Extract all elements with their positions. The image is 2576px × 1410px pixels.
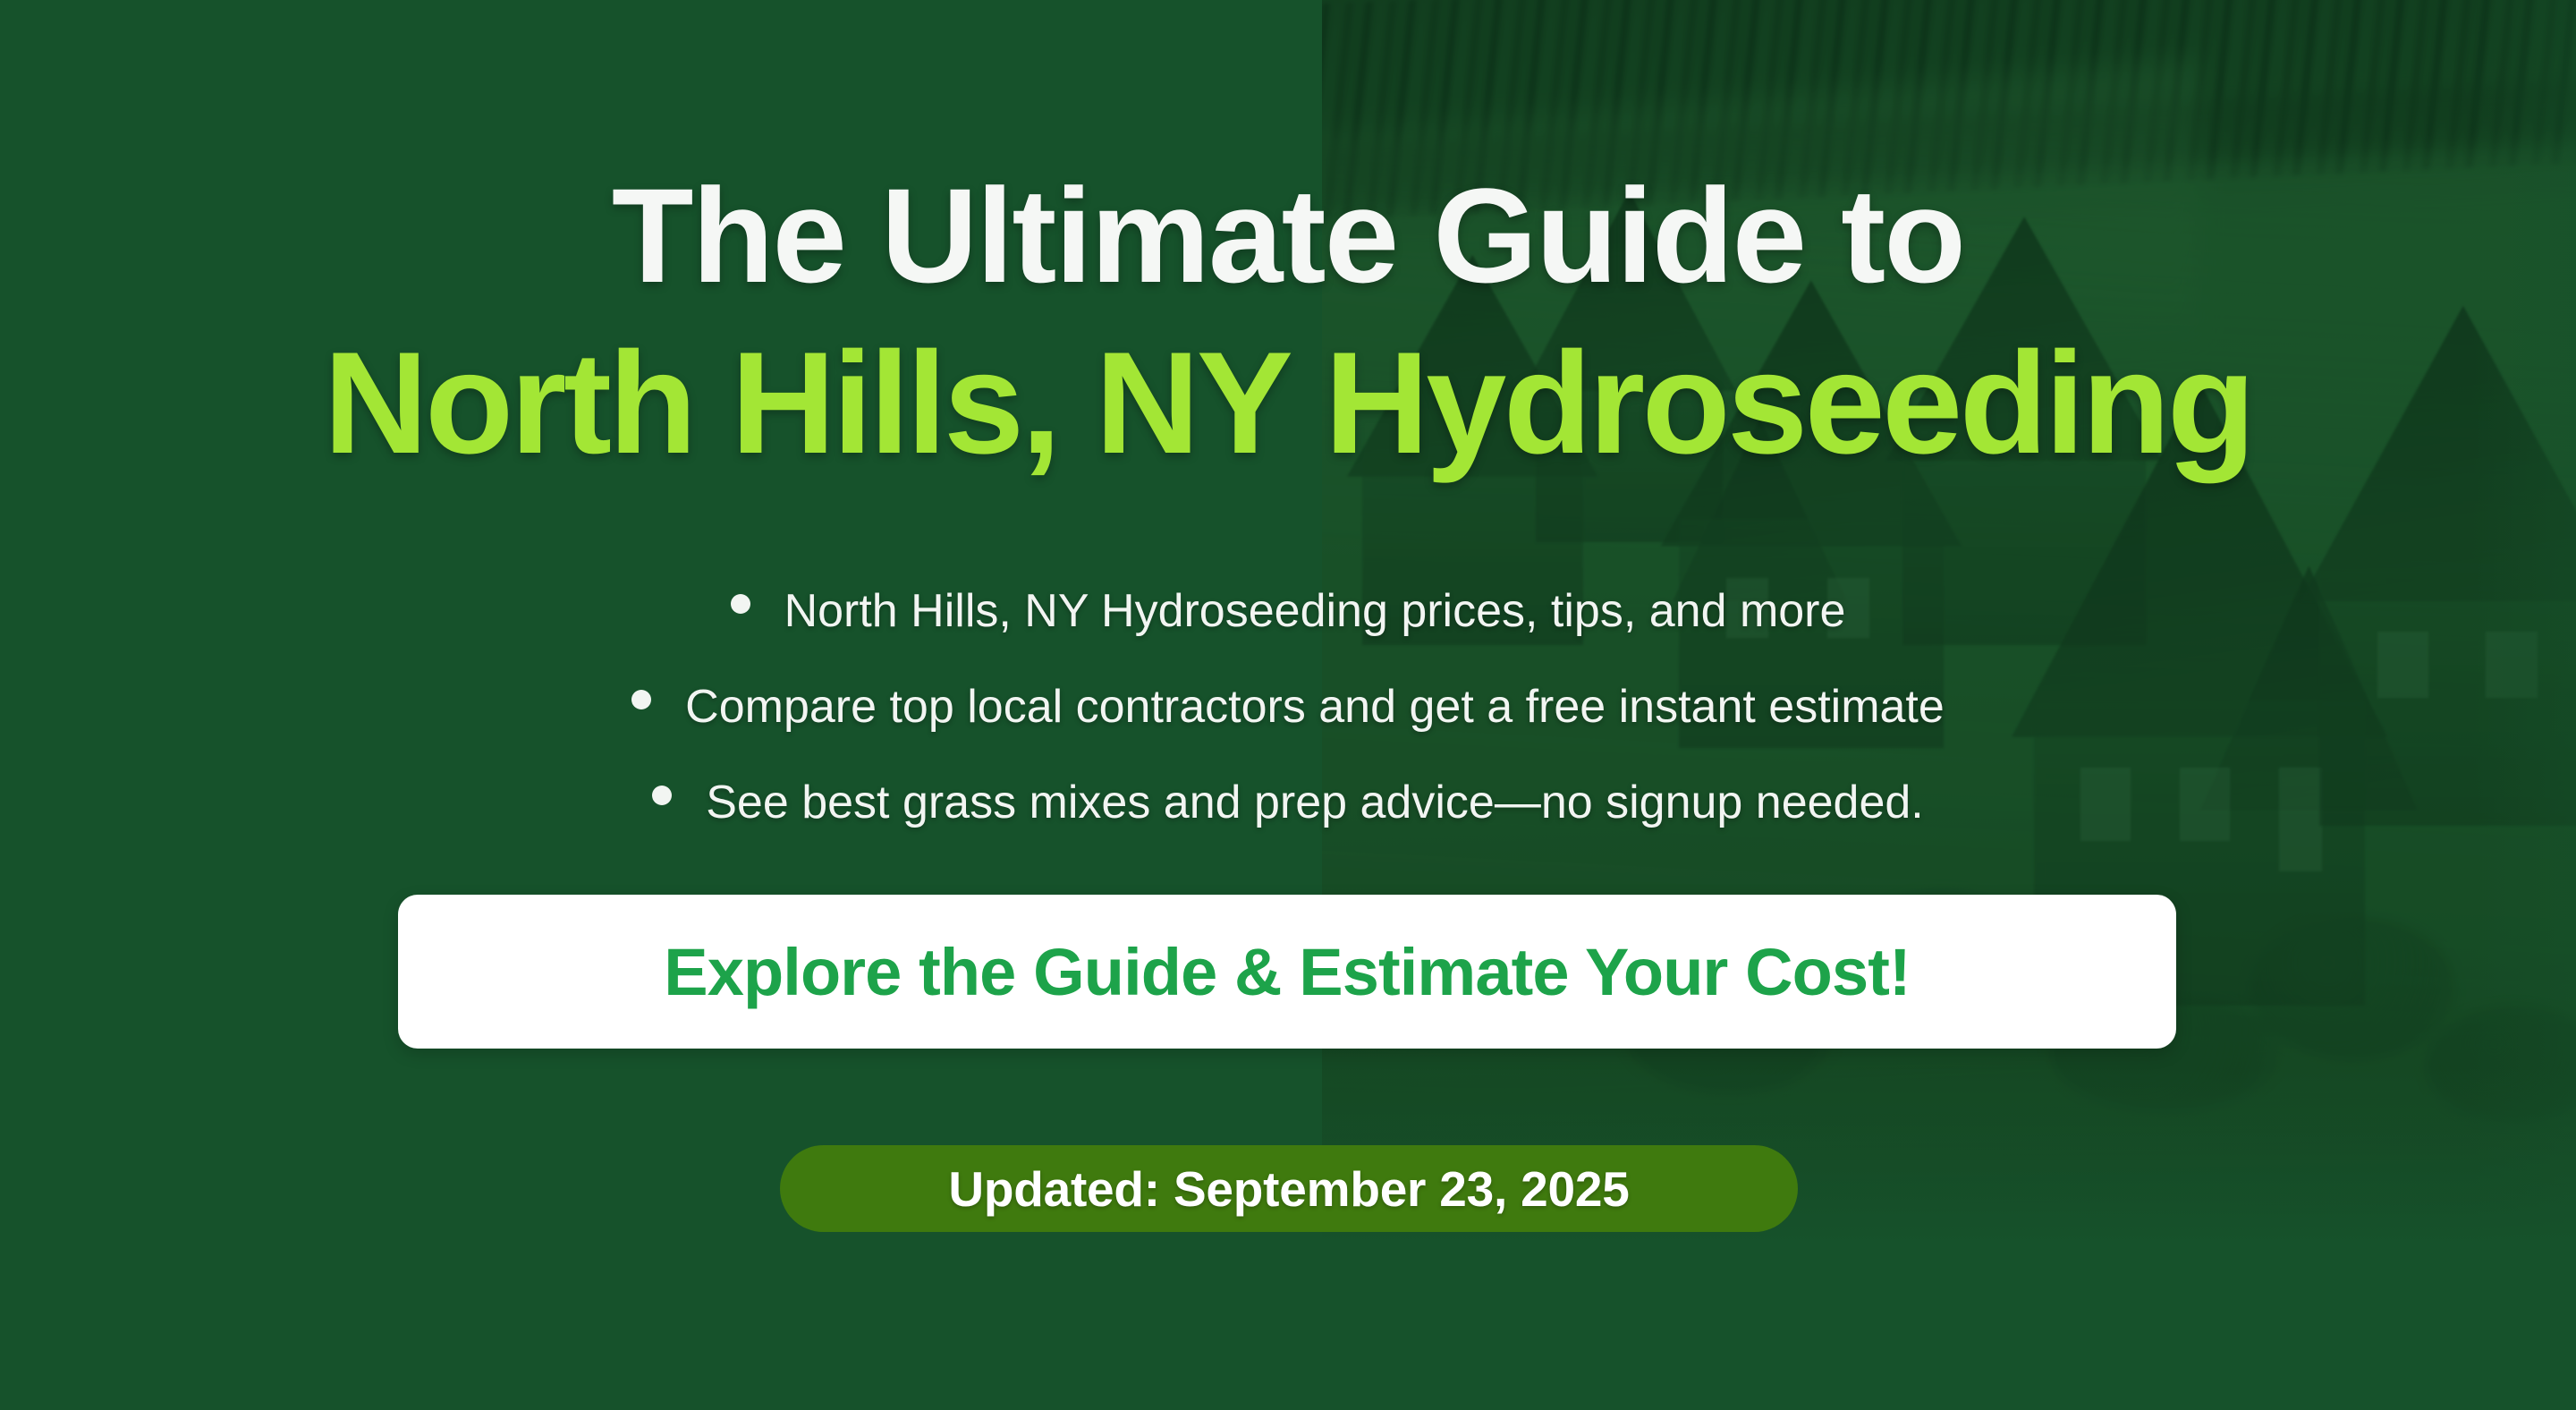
explore-guide-cta-button[interactable]: Explore the Guide & Estimate Your Cost! [398,895,2176,1049]
headline-line-1: The Ultimate Guide to [0,168,2576,302]
list-item-label: North Hills, NY Hydroseeding prices, tip… [784,586,1846,637]
bullet-dot-icon [631,690,651,709]
bullet-dot-icon [652,786,672,805]
banner-content: The Ultimate Guide to North Hills, NY Hy… [0,0,2576,1410]
list-item: North Hills, NY Hydroseeding prices, tip… [0,586,2576,682]
list-item-label: See best grass mixes and prep advice—no … [706,777,1924,828]
updated-date-badge: Updated: September 23, 2025 [780,1145,1798,1232]
headline-line-2: North Hills, NY Hydroseeding [0,331,2576,476]
hero-banner: The Ultimate Guide to North Hills, NY Hy… [0,0,2576,1410]
bullet-dot-icon [731,594,750,614]
list-item: See best grass mixes and prep advice—no … [0,777,2576,873]
list-item-label: Compare top local contractors and get a … [685,682,1945,733]
list-item: Compare top local contractors and get a … [0,682,2576,777]
benefits-list: North Hills, NY Hydroseeding prices, tip… [0,586,2576,873]
